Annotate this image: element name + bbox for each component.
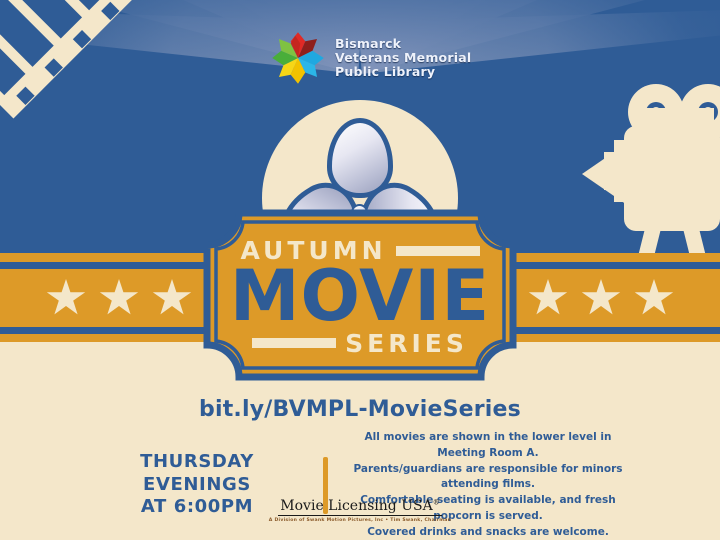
movie-camera-icon — [580, 78, 720, 253]
stars-right-group — [528, 279, 674, 317]
mlusa-subtitle: A Division of Swank Motion Pictures, Inc… — [0, 518, 720, 523]
sprocket-hole — [101, 2, 119, 20]
movie-series-poster: Bismarck Veterans Memorial Public Librar… — [0, 0, 720, 540]
movie-licensing-usa-logo: Movie Licensing USA® A Division of Swank… — [0, 497, 720, 523]
brand-line-1: Bismarck — [335, 37, 471, 51]
star-icon — [634, 279, 674, 317]
details-line-2: Parents/guardians are responsible for mi… — [346, 462, 631, 494]
library-name: Bismarck Veterans Memorial Public Librar… — [335, 37, 471, 79]
stars-left-group — [46, 279, 192, 317]
sprocket-hole — [16, 87, 34, 105]
series-rule — [252, 338, 336, 348]
title-primary: MOVIE — [230, 264, 490, 330]
star-icon — [581, 279, 621, 317]
info-row: THURSDAY EVENINGS AT 6:00PM All movies a… — [0, 430, 720, 540]
sprocket-hole — [45, 58, 63, 76]
brand-line-3: Public Library — [335, 65, 471, 79]
series-url[interactable]: bit.ly/BVMPL-MovieSeries — [0, 397, 720, 422]
brand-line-2: Veterans Memorial — [335, 51, 471, 65]
library-brand: Bismarck Veterans Memorial Public Librar… — [270, 26, 500, 90]
title-bottom: SERIES — [345, 331, 468, 356]
autumn-rule — [396, 246, 480, 256]
star-icon — [152, 279, 192, 317]
star-icon — [46, 279, 86, 317]
bvmpl-pinwheel-star-logo — [270, 30, 326, 86]
mlusa-name: Movie Licensing USA® — [278, 498, 441, 516]
star-icon — [528, 279, 568, 317]
star-icon — [99, 279, 139, 317]
details-block: All movies are shown in the lower level … — [346, 430, 631, 540]
series-row: SERIES — [252, 331, 468, 356]
details-line-4: Covered drinks and snacks are welcome. — [346, 525, 631, 540]
schedule-line-1: THURSDAY EVENINGS — [90, 451, 305, 496]
mlusa-name-text: Movie Licensing USA — [280, 498, 432, 514]
details-line-1: All movies are shown in the lower level … — [346, 430, 631, 462]
sprocket-hole — [73, 30, 91, 48]
title-plaque: AUTUMN MOVIE SERIES — [203, 209, 517, 381]
mlusa-registered-icon: ® — [433, 498, 440, 506]
